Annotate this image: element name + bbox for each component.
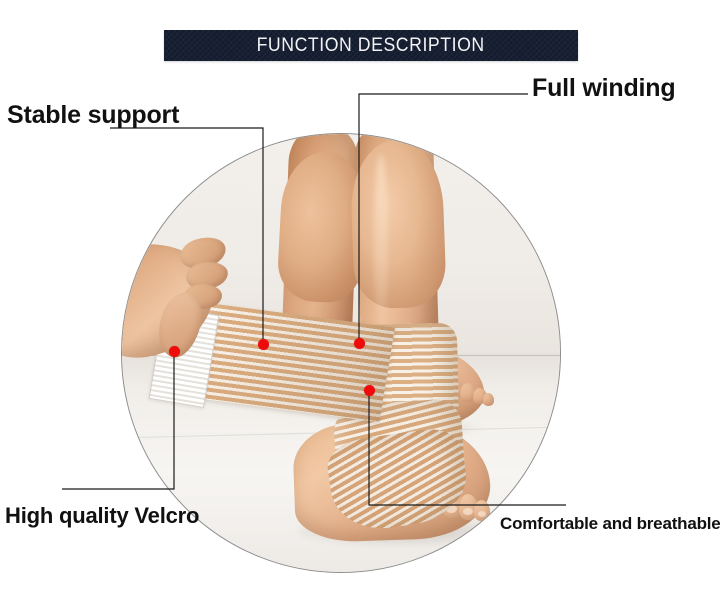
function-description-banner: FUNCTION DESCRIPTION [164, 30, 578, 61]
callout-label-stable-support: Stable support [7, 101, 179, 130]
callout-label-high-quality-velcro: High quality Velcro [5, 503, 199, 529]
callout-dot-full-winding[interactable] [354, 338, 365, 349]
callout-dot-stable-support[interactable] [258, 339, 269, 350]
callout-label-comfortable-and-breathable: Comfortable and breathable [500, 514, 720, 534]
infographic-canvas: FUNCTION DESCRIPTION [0, 0, 720, 610]
callout-label-full-winding: Full winding [532, 74, 675, 103]
callout-dot-comfortable-and-breathable[interactable] [364, 385, 375, 396]
shin-highlight [374, 154, 388, 334]
banner-title: FUNCTION DESCRIPTION [257, 35, 485, 57]
front-calf [349, 138, 447, 309]
callout-dot-high-quality-velcro[interactable] [169, 346, 180, 357]
